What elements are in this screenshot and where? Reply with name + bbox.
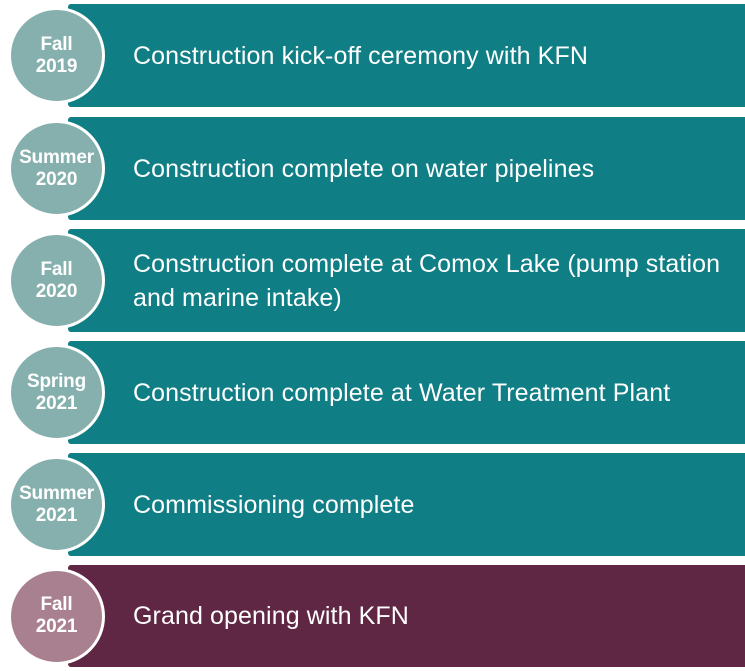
marker-season-label: Fall [41, 594, 73, 616]
timeline-milestone: Construction complete at Water Treatment… [133, 341, 727, 444]
timeline-row: Fall2019Construction kick-off ceremony w… [0, 4, 745, 107]
marker-year-label: 2021 [36, 616, 77, 638]
timeline-milestone-text: Grand opening with KFN [133, 599, 409, 633]
timeline-milestone-text: Construction complete at Water Treatment… [133, 376, 670, 410]
marker-year-label: 2021 [36, 393, 77, 415]
marker-year-label: 2020 [36, 281, 77, 303]
timeline-row: Fall2021Grand opening with KFN [0, 565, 745, 667]
timeline-date-marker: Fall2021 [8, 568, 105, 665]
marker-season-label: Fall [41, 34, 73, 56]
marker-year-label: 2019 [36, 56, 77, 78]
marker-season-label: Fall [41, 259, 73, 281]
marker-season-label: Summer [19, 483, 94, 505]
timeline-graphic: Fall2019Construction kick-off ceremony w… [0, 0, 745, 671]
timeline-row: Spring2021Construction complete at Water… [0, 341, 745, 444]
marker-season-label: Spring [27, 371, 86, 393]
timeline-milestone: Commissioning complete [133, 453, 727, 556]
timeline-row: Fall2020Construction complete at Comox L… [0, 229, 745, 332]
timeline-milestone-text: Construction complete at Comox Lake (pum… [133, 247, 727, 315]
timeline-milestone: Construction complete at Comox Lake (pum… [133, 229, 727, 332]
timeline-milestone: Construction kick-off ceremony with KFN [133, 4, 727, 107]
timeline-date-marker: Fall2019 [8, 7, 105, 104]
timeline-date-marker: Fall2020 [8, 232, 105, 329]
timeline-row: Summer2021Commissioning complete [0, 453, 745, 556]
timeline-row: Summer2020Construction complete on water… [0, 117, 745, 220]
timeline-date-marker: Summer2021 [8, 456, 105, 553]
timeline-milestone: Construction complete on water pipelines [133, 117, 727, 220]
marker-year-label: 2021 [36, 505, 77, 527]
timeline-milestone-text: Construction kick-off ceremony with KFN [133, 39, 588, 73]
timeline-milestone-text: Construction complete on water pipelines [133, 152, 594, 186]
timeline-date-marker: Spring2021 [8, 344, 105, 441]
timeline-milestone: Grand opening with KFN [133, 565, 727, 667]
timeline-milestone-text: Commissioning complete [133, 488, 414, 522]
marker-year-label: 2020 [36, 169, 77, 191]
marker-season-label: Summer [19, 147, 94, 169]
timeline-date-marker: Summer2020 [8, 120, 105, 217]
